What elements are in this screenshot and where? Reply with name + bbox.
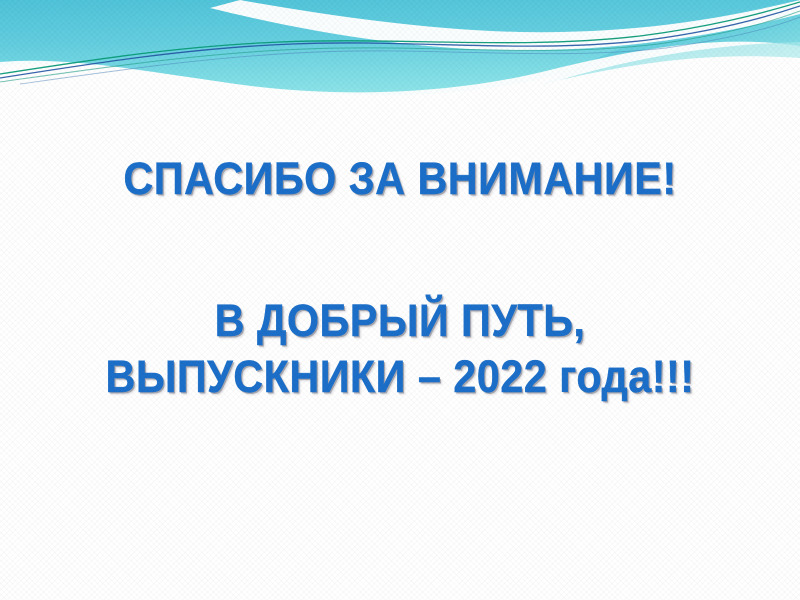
- teal-wave-banner: [0, 0, 800, 130]
- slide-canvas: СПАСИБО ЗА ВНИМАНИЕ! В ДОБРЫЙ ПУТЬ, ВЫПУ…: [0, 0, 800, 600]
- good-journey-line: В ДОБРЫЙ ПУТЬ,: [50, 298, 749, 343]
- thank-you-line: СПАСИБО ЗА ВНИМАНИЕ!: [50, 156, 749, 201]
- wave-graphic: [0, 0, 800, 130]
- graduates-year-line: ВЫПУСКНИКИ – 2022 года!!!: [50, 354, 749, 399]
